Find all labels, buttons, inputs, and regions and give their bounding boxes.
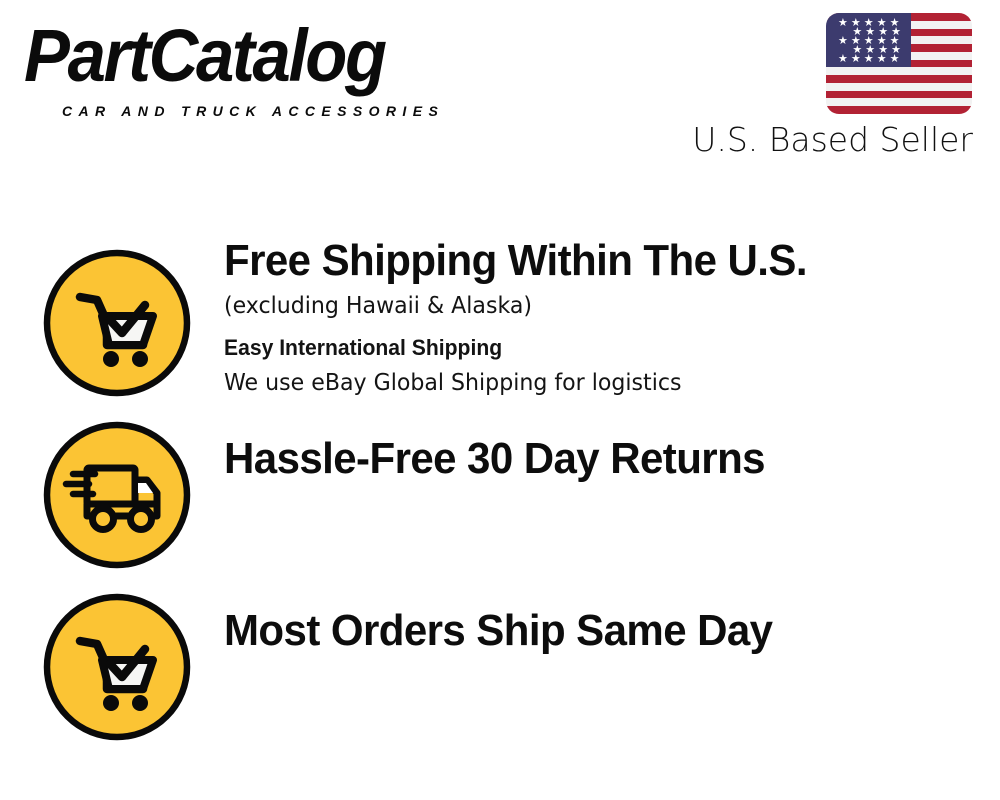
seller-label: U.S. Based Seller [692, 120, 973, 160]
brand-logo: PartCatalog CAR AND TRUCK ACCESSORIES [24, 18, 494, 118]
shopping-cart-check-icon [43, 249, 191, 397]
feature-text-block: Most Orders Ship Same Day [224, 606, 984, 656]
flag-star-row: ★ ★ ★ ★ ★ [826, 54, 911, 65]
feature-heading: Most Orders Ship Same Day [224, 606, 950, 656]
brand-wordmark: PartCatalog [24, 16, 385, 96]
flag-canton: ★ ★ ★ ★ ★ ★ ★ ★ ★ ★ ★ ★ ★ ★ ★ ★ ★ ★ ★ ★ … [826, 13, 911, 67]
us-based-seller-badge: ★ ★ ★ ★ ★ ★ ★ ★ ★ ★ ★ ★ ★ ★ ★ ★ ★ ★ ★ ★ … [696, 10, 986, 160]
shopping-cart-check-icon [43, 593, 191, 741]
feature-heading: Free Shipping Within The U.S. [224, 236, 950, 286]
brand-tagline: CAR AND TRUCK ACCESSORIES [62, 103, 444, 119]
feature-subtext: (excluding Hawaii & Alaska) [224, 291, 954, 321]
feature-text-block: Hassle-Free 30 Day Returns [224, 434, 984, 484]
us-flag-icon: ★ ★ ★ ★ ★ ★ ★ ★ ★ ★ ★ ★ ★ ★ ★ ★ ★ ★ ★ ★ … [826, 13, 972, 114]
feature-heading: Hassle-Free 30 Day Returns [224, 434, 950, 484]
delivery-truck-icon [43, 421, 191, 569]
feature-subtext: We use eBay Global Shipping for logistic… [224, 368, 954, 398]
promo-banner: PartCatalog CAR AND TRUCK ACCESSORIES [0, 0, 1000, 800]
feature-subtext-bold: Easy International Shipping [224, 333, 954, 363]
feature-text-block: Free Shipping Within The U.S. (excluding… [224, 236, 984, 398]
